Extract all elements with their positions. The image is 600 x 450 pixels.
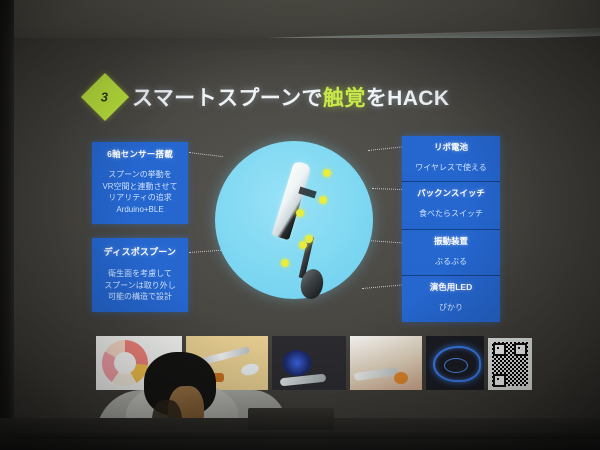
spoon-graphic (280, 374, 327, 387)
info-box-battery-body: ワイヤレスで使える (402, 162, 500, 173)
info-box-vibration-body: ぶるぶる (402, 256, 500, 267)
info-box-led-header: 演色用LED (402, 281, 500, 293)
page-title: スマートスプーンで触覚をHACK (132, 82, 449, 112)
left-wall-edge (0, 0, 14, 450)
info-box-bite-switch-body: 食べたらスイッチ (402, 208, 500, 219)
info-box-sensor-header: 6軸センサー搭載 (92, 148, 188, 160)
info-box-bite-switch[interactable]: パックンスイッチ 食べたらスイッチ (402, 182, 500, 230)
slide-number-diamond: 3 (81, 73, 129, 121)
qr-eye-icon (493, 343, 506, 356)
qr-eye-icon (493, 374, 506, 387)
marker-dot (319, 196, 327, 204)
photo-brain-scan (426, 336, 484, 390)
info-box-disposable-spoon[interactable]: ディスポスプーン 衛生面を考慮して スプーンは取り外し 可能の構造で設計 (92, 238, 188, 312)
title-highlight: 触覚 (323, 87, 366, 110)
photo-qr-code (488, 338, 532, 390)
photo-spoon-with-food (350, 336, 422, 390)
info-box-vibration-header: 振動装置 (402, 235, 500, 247)
marker-dot (299, 241, 307, 249)
blue-glow-graphic (282, 350, 312, 376)
food-graphic (394, 372, 408, 384)
info-box-led[interactable]: 演色用LED ぴかり (402, 276, 500, 322)
title-suffix: をHACK (366, 87, 450, 110)
marker-dot (281, 259, 289, 267)
info-box-disposable-spoon-header: ディスポスプーン (92, 245, 188, 258)
info-box-led-body: ぴかり (402, 302, 500, 313)
info-box-vibration[interactable]: 振動装置 ぶるぶる (402, 230, 500, 276)
slide-title-row: 3 スマートスプーンで触覚をHACK (88, 80, 449, 114)
marker-dot (296, 209, 304, 217)
info-box-sensor-body: スプーンの挙動を VR空間と連動させて リアリティの追求 Arduino+BLE (92, 169, 188, 215)
photo-scene: 3 スマートスプーンで触覚をHACK 6軸センサー搭載 スプーン (0, 0, 600, 450)
info-box-sensor[interactable]: 6軸センサー搭載 スプーンの挙動を VR空間と連動させて リアリティの追求 Ar… (92, 142, 188, 224)
brain-scan-graphic (433, 346, 481, 382)
marker-dot (323, 169, 331, 177)
info-box-bite-switch-header: パックンスイッチ (402, 187, 500, 199)
info-box-battery[interactable]: リポ電池 ワイヤレスで使える (402, 136, 500, 182)
spoon-handle (272, 160, 312, 240)
info-box-battery-header: リポ電池 (402, 141, 500, 153)
qr-eye-icon (514, 343, 527, 356)
slide-number: 3 (101, 89, 108, 104)
screen-bottom-edge (14, 430, 600, 439)
smart-spoon-illustration (215, 141, 373, 299)
title-prefix: スマートスプーンで (132, 87, 323, 110)
warm-light-overlay (350, 336, 422, 390)
info-box-disposable-spoon-body: 衛生面を考慮して スプーンは取り外し 可能の構造で設計 (92, 268, 188, 303)
